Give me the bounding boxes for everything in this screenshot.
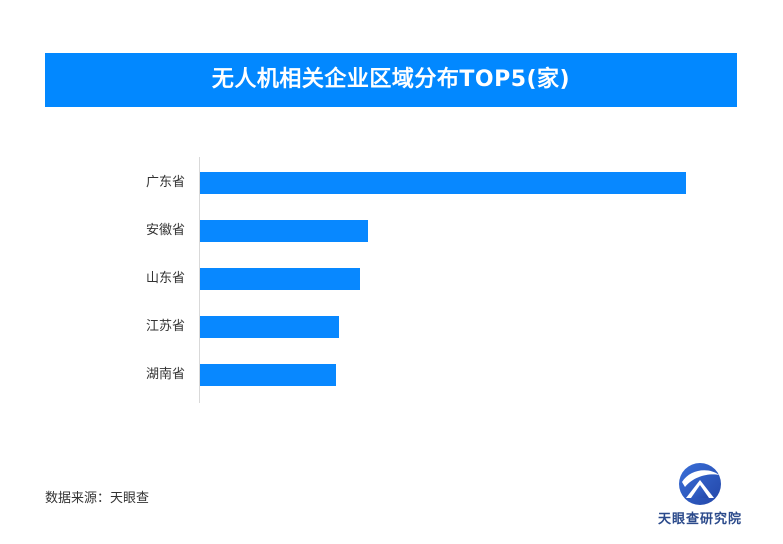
bar-label-hunan: 湖南省 [60,362,185,388]
bar-hunan [200,364,336,386]
bar-row: 山东省 [0,268,783,290]
bar-row: 安徽省 [0,220,783,242]
bar-shandong [200,268,360,290]
bar-guangdong [200,172,686,194]
bar-chart: 广东省 安徽省 山东省 江苏省 湖南省 [0,150,783,412]
bar-row: 江苏省 [0,316,783,338]
bar-label-guangdong: 广东省 [60,170,185,196]
infographic-canvas: 无人机相关企业区域分布TOP5(家) 广东省 安徽省 山东省 江苏省 湖南省 数… [0,0,783,544]
brand-name-label: 天眼查研究院 [658,508,742,527]
title-banner: 无人机相关企业区域分布TOP5(家) [45,53,737,107]
bar-row: 湖南省 [0,364,783,386]
bar-anhui [200,220,368,242]
bar-label-shandong: 山东省 [60,266,185,292]
chart-title: 无人机相关企业区域分布TOP5(家) [212,69,570,91]
brand-logo: 天眼查研究院 [650,462,750,534]
bar-row: 广东省 [0,172,783,194]
bar-label-jiangsu: 江苏省 [60,314,185,340]
bar-jiangsu [200,316,339,338]
data-source-note: 数据来源：天眼查 [45,487,149,506]
tianyancha-eye-logo-icon [676,462,724,506]
bar-label-anhui: 安徽省 [60,218,185,244]
